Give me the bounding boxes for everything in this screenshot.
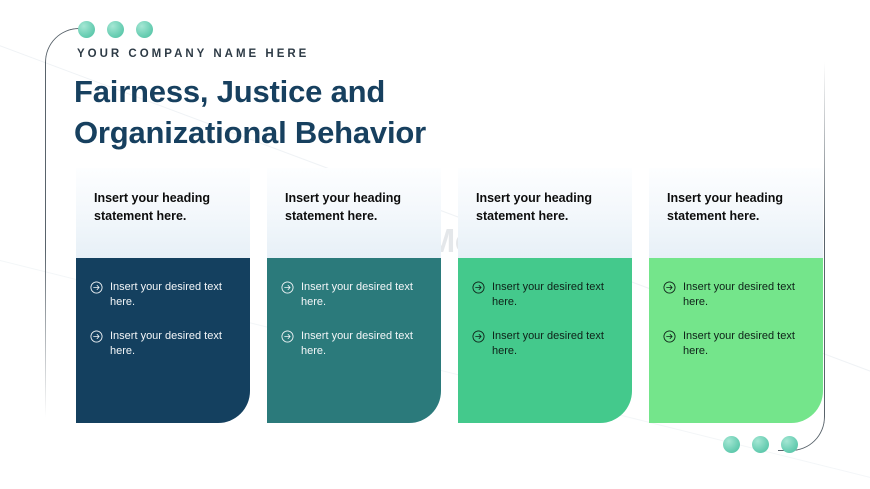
card-1-header: Insert your heading statement here. bbox=[76, 168, 250, 258]
dot-icon bbox=[752, 436, 769, 453]
list-item: Insert your desired text here. bbox=[663, 329, 809, 359]
list-item: Insert your desired text here. bbox=[663, 280, 809, 310]
decorative-dots-top-left bbox=[78, 21, 153, 38]
card-row: Insert your heading statement here. Inse… bbox=[76, 168, 823, 423]
card-2-header: Insert your heading statement here. bbox=[267, 168, 441, 258]
arrow-circle-right-icon bbox=[663, 330, 676, 359]
card-4-body: Insert your desired text here. Insert yo… bbox=[649, 258, 823, 423]
card-3-heading: Insert your heading statement here. bbox=[476, 190, 614, 226]
arrow-circle-right-icon bbox=[90, 281, 103, 310]
list-item: Insert your desired text here. bbox=[90, 329, 236, 359]
arrow-circle-right-icon bbox=[281, 281, 294, 310]
list-item-label: Insert your desired text here. bbox=[110, 329, 236, 359]
list-item-label: Insert your desired text here. bbox=[492, 280, 618, 310]
list-item: Insert your desired text here. bbox=[472, 329, 618, 359]
arrow-circle-right-icon bbox=[472, 330, 485, 359]
list-item: Insert your desired text here. bbox=[472, 280, 618, 310]
list-item-label: Insert your desired text here. bbox=[683, 280, 809, 310]
arrow-circle-right-icon bbox=[281, 330, 294, 359]
list-item: Insert your desired text here. bbox=[281, 280, 427, 310]
card-2[interactable]: Insert your heading statement here. Inse… bbox=[267, 168, 441, 423]
card-3-header: Insert your heading statement here. bbox=[458, 168, 632, 258]
dot-icon bbox=[723, 436, 740, 453]
list-item-label: Insert your desired text here. bbox=[301, 280, 427, 310]
list-item: Insert your desired text here. bbox=[90, 280, 236, 310]
slide-canvas: YOUR COMPANY NAME HERE Fairness, Justice… bbox=[0, 0, 870, 489]
card-1[interactable]: Insert your heading statement here. Inse… bbox=[76, 168, 250, 423]
decorative-dots-bottom-right bbox=[723, 436, 798, 453]
arrow-circle-right-icon bbox=[663, 281, 676, 310]
card-4-header: Insert your heading statement here. bbox=[649, 168, 823, 258]
list-item-label: Insert your desired text here. bbox=[683, 329, 809, 359]
list-item: Insert your desired text here. bbox=[281, 329, 427, 359]
card-1-body: Insert your desired text here. Insert yo… bbox=[76, 258, 250, 423]
list-item-label: Insert your desired text here. bbox=[492, 329, 618, 359]
card-1-heading: Insert your heading statement here. bbox=[94, 190, 232, 226]
card-2-heading: Insert your heading statement here. bbox=[285, 190, 423, 226]
dot-icon bbox=[136, 21, 153, 38]
dot-icon bbox=[107, 21, 124, 38]
arrow-circle-right-icon bbox=[90, 330, 103, 359]
company-name-eyebrow: YOUR COMPANY NAME HERE bbox=[77, 48, 309, 60]
arrow-circle-right-icon bbox=[472, 281, 485, 310]
page-title-line-1: Fairness, Justice and bbox=[74, 72, 714, 113]
card-2-body: Insert your desired text here. Insert yo… bbox=[267, 258, 441, 423]
dot-icon bbox=[78, 21, 95, 38]
page-title: Fairness, Justice and Organizational Beh… bbox=[74, 72, 714, 154]
card-4[interactable]: Insert your heading statement here. Inse… bbox=[649, 168, 823, 423]
page-title-line-2: Organizational Behavior bbox=[74, 113, 714, 154]
list-item-label: Insert your desired text here. bbox=[110, 280, 236, 310]
card-4-heading: Insert your heading statement here. bbox=[667, 190, 805, 226]
card-3[interactable]: Insert your heading statement here. Inse… bbox=[458, 168, 632, 423]
card-3-body: Insert your desired text here. Insert yo… bbox=[458, 258, 632, 423]
list-item-label: Insert your desired text here. bbox=[301, 329, 427, 359]
dot-icon bbox=[781, 436, 798, 453]
